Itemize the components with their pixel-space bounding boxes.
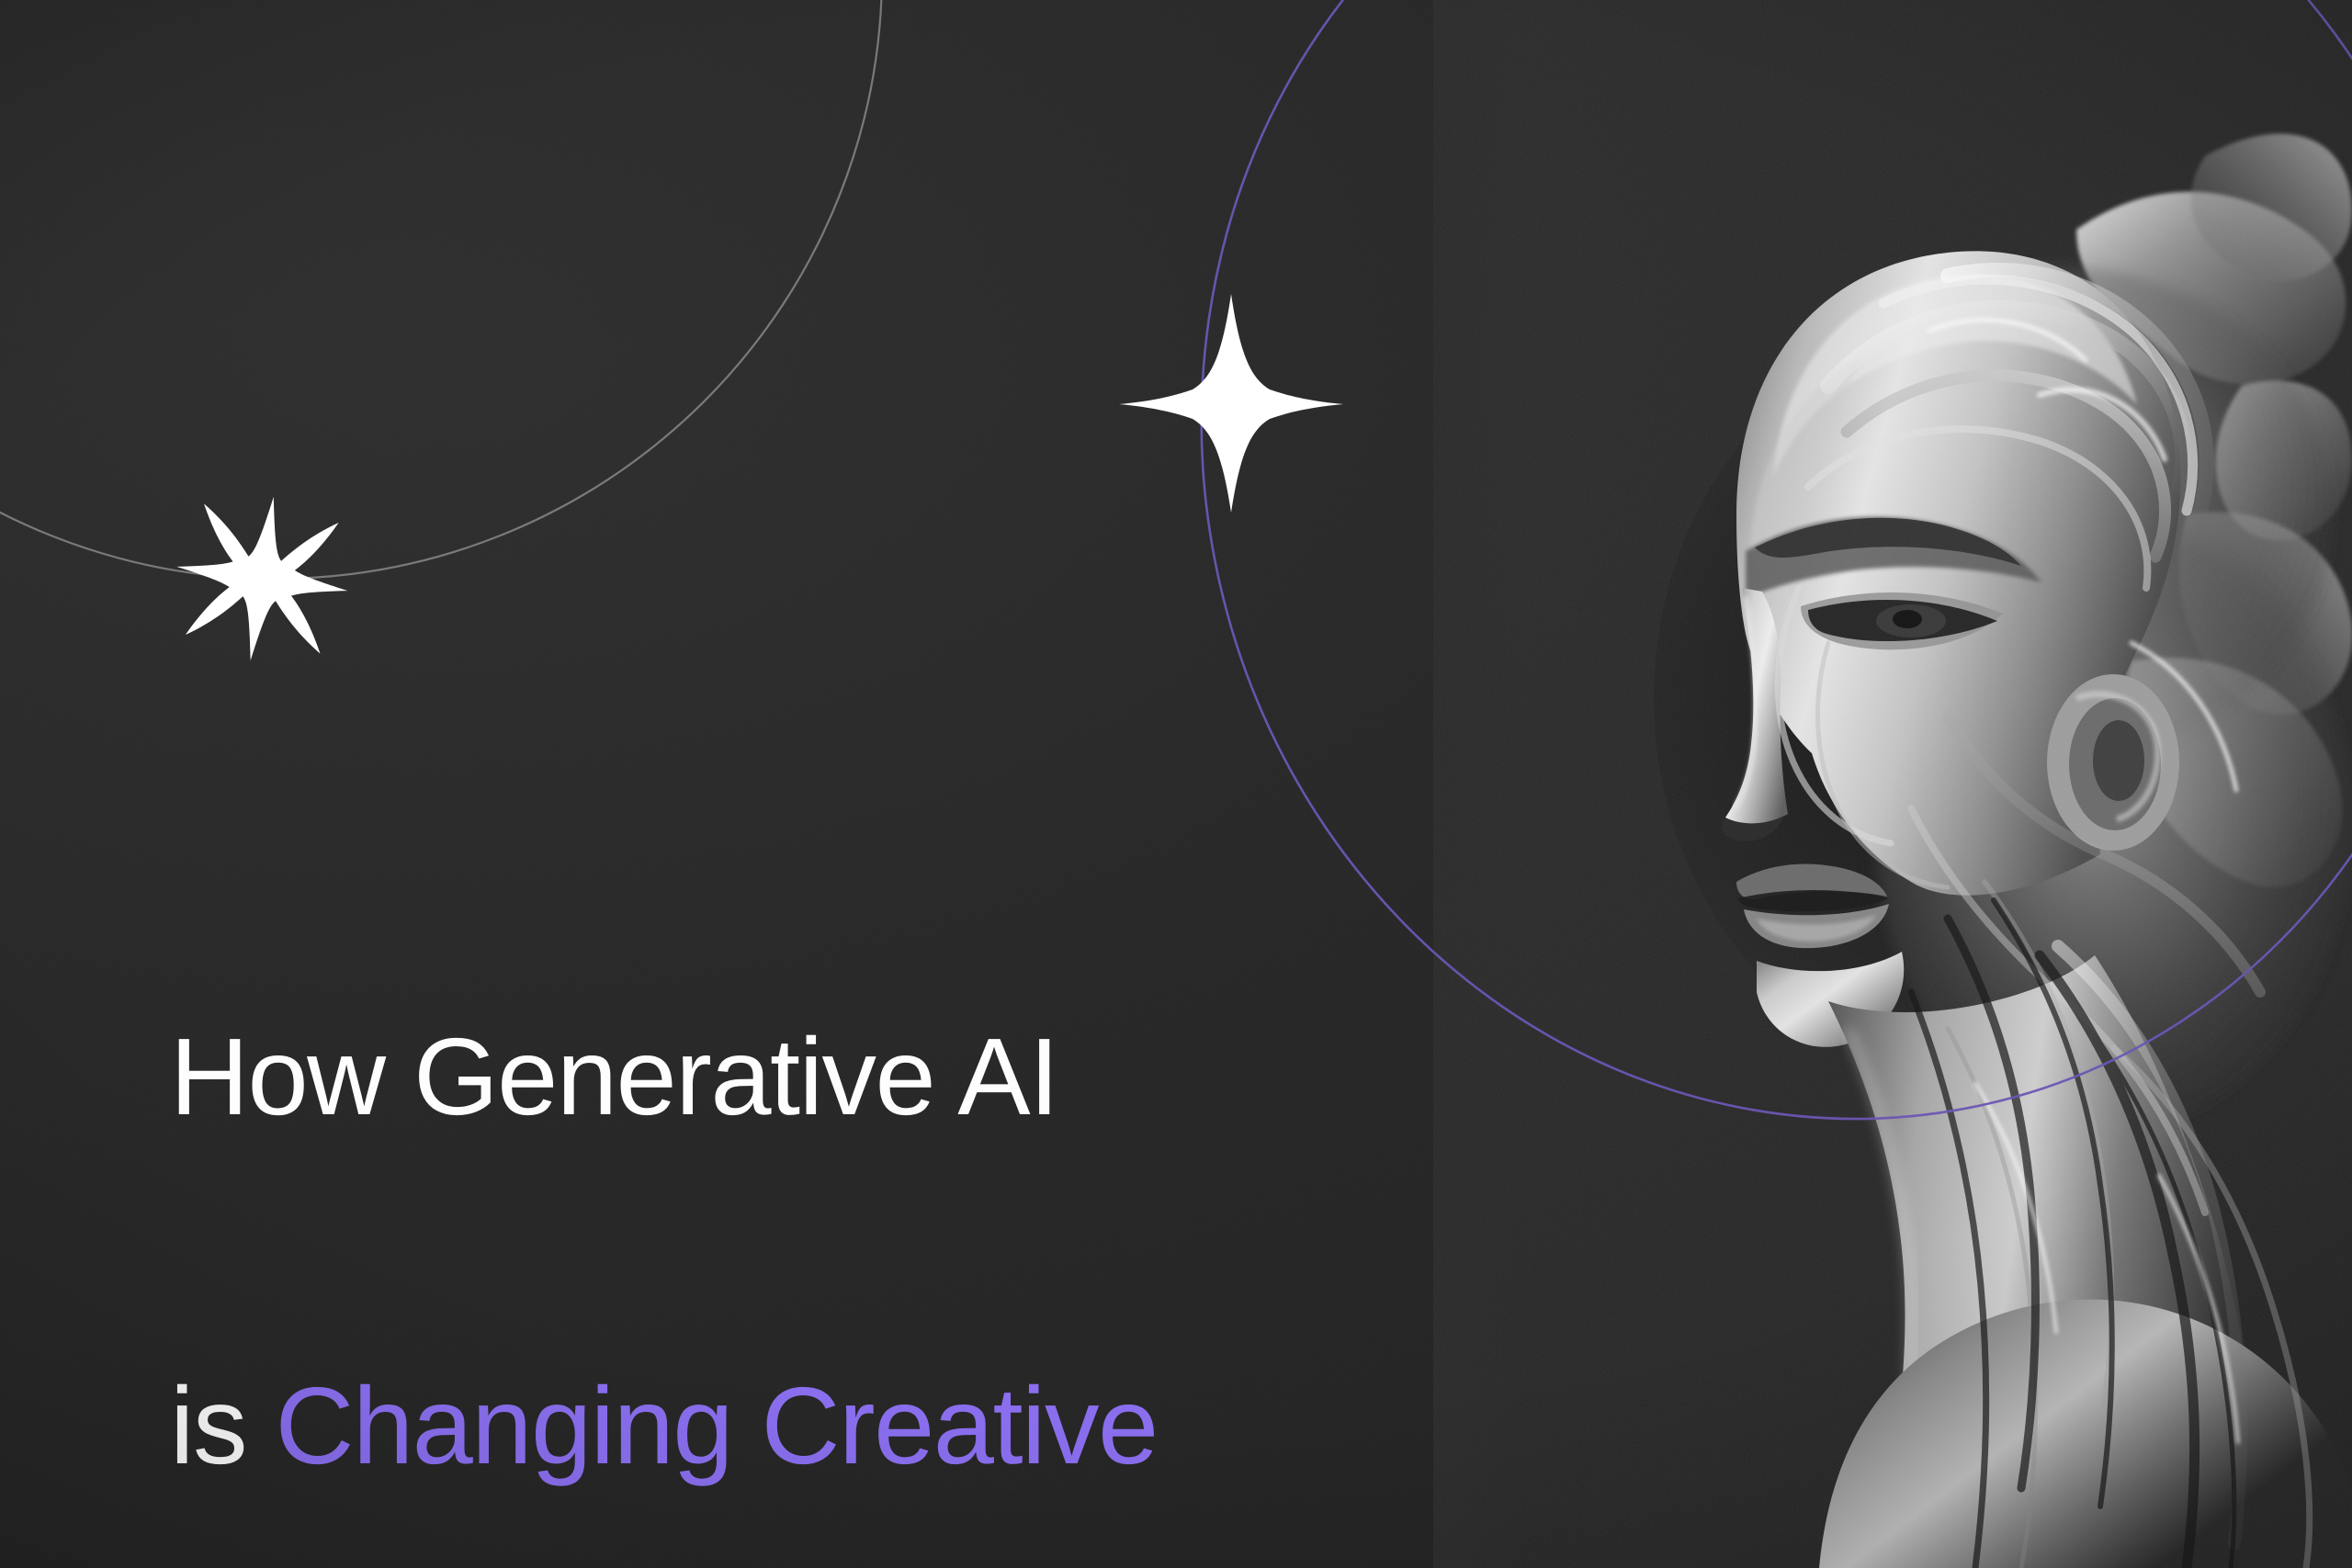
headline-line-1: How Generative AI	[170, 990, 1530, 1165]
android-portrait-illustration	[1433, 0, 2352, 1568]
page-title: How Generative AI is Changing Creative W…	[170, 816, 1530, 1568]
ai-android-figure	[1433, 0, 2352, 1568]
headline-segment: is	[170, 1365, 276, 1487]
headline-segment: How Generative AI	[170, 1016, 1058, 1138]
hero-banner: How Generative AI is Changing Creative W…	[0, 0, 2352, 1568]
headline-line-2: is Changing Creative	[170, 1339, 1530, 1514]
headline-segment-accent: Changing Creative	[276, 1365, 1158, 1487]
